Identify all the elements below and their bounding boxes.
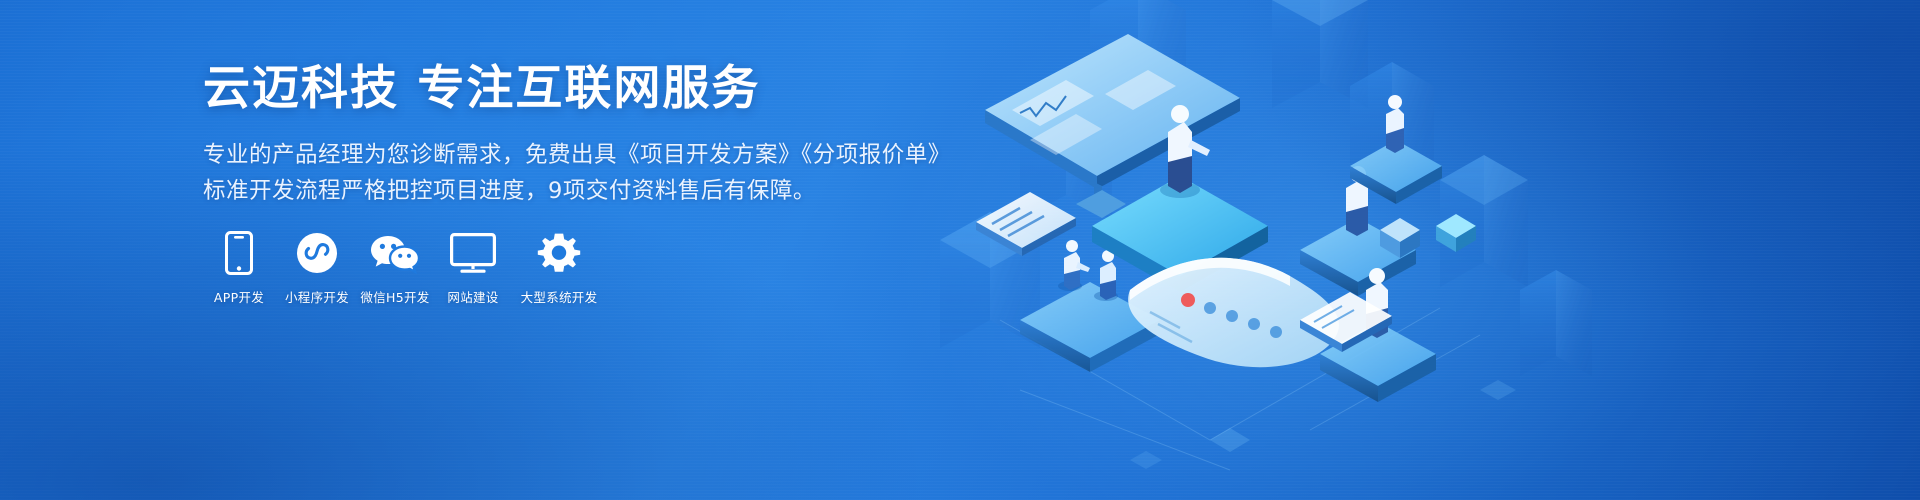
gear-icon [537, 230, 581, 276]
service-list: APP开发 小程序开发 微信 [203, 230, 609, 306]
service-label: 网站建设 [447, 287, 498, 306]
mini-program-icon [296, 230, 338, 276]
hero-banner: 云迈科技 专注互联网服务 专业的产品经理为您诊断需求，免费出具《项目开发方案》《… [0, 0, 1920, 500]
service-item-website[interactable]: 网站建设 [437, 230, 509, 306]
service-label: 小程序开发 [285, 287, 349, 306]
subtitle-line-1: 专业的产品经理为您诊断需求，免费出具《项目开发方案》《分项报价单》 [203, 137, 951, 173]
mobile-phone-icon [225, 230, 253, 276]
document-ribbon [1128, 258, 1339, 367]
wechat-icon [370, 230, 420, 276]
service-item-wechat-h5[interactable]: 微信H5开发 [355, 230, 435, 306]
service-item-app[interactable]: APP开发 [203, 230, 275, 306]
service-label: 微信H5开发 [360, 287, 429, 306]
hero-subtitle: 专业的产品经理为您诊断需求，免费出具《项目开发方案》《分项报价单》 标准开发流程… [203, 137, 951, 210]
service-label: 大型系统开发 [521, 287, 598, 306]
service-label: APP开发 [214, 287, 264, 306]
monitor-icon [450, 230, 496, 276]
subtitle-line-2: 标准开发流程严格把控项目进度，9项交付资料售后有保障。 [203, 173, 951, 209]
page-title: 云迈科技 专注互联网服务 [203, 62, 951, 116]
hero-text-block: 云迈科技 专注互联网服务 专业的产品经理为您诊断需求，免费出具《项目开发方案》《… [203, 62, 951, 210]
isometric-illustration [880, 0, 1600, 500]
bottom-accents [1130, 380, 1516, 469]
service-item-mini-program[interactable]: 小程序开发 [281, 230, 353, 306]
service-item-large-system[interactable]: 大型系统开发 [511, 230, 607, 306]
